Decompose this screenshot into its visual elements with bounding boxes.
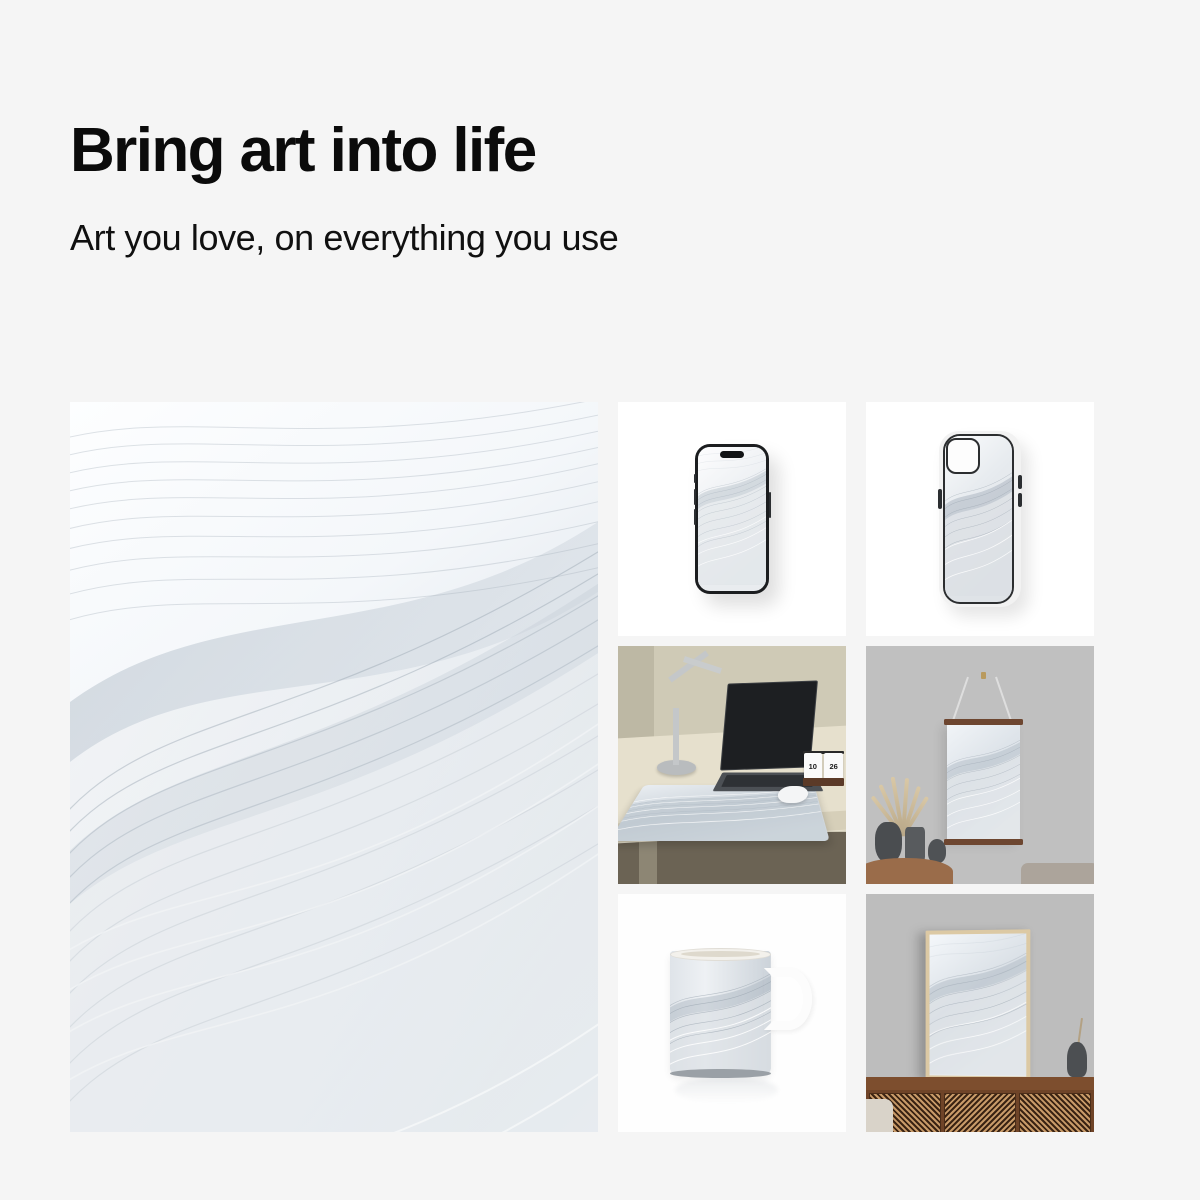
sideboard-panel — [1019, 1093, 1091, 1132]
product-gallery: 10 26 — [70, 402, 1130, 1132]
tile-hanging-poster[interactable] — [866, 646, 1094, 884]
poster-string-left — [953, 677, 969, 720]
wall-hook-icon — [981, 672, 986, 679]
phone-power-button — [769, 492, 771, 518]
poster-rail-bottom — [944, 839, 1024, 845]
room-vase — [1067, 1042, 1088, 1078]
promo-page: Bring art into life Art you love, on eve… — [0, 0, 1200, 1200]
printed-mug-body — [670, 951, 770, 1075]
header: Bring art into life Art you love, on eve… — [70, 118, 970, 259]
sofa — [1021, 863, 1094, 884]
hanging-poster-mockup-scene — [866, 646, 1094, 884]
tile-phone-case[interactable] — [866, 402, 1094, 636]
sideboard-panel — [944, 1093, 1016, 1132]
printed-poster — [947, 722, 1020, 841]
mug-rim — [670, 948, 770, 961]
phone-volume-up-button — [694, 489, 696, 505]
abstract-waves-artwork — [70, 402, 598, 1132]
phone-case-device — [939, 431, 1021, 607]
desk-mat-mockup-scene: 10 26 — [618, 646, 846, 884]
tile-framed-print[interactable] — [866, 894, 1094, 1132]
mug-reflection — [675, 1077, 778, 1103]
mug-bottom — [670, 1069, 770, 1079]
camera-cutout-icon — [946, 438, 980, 474]
phone-mute-button — [694, 474, 696, 483]
tile-ceramic-mug[interactable] — [618, 894, 846, 1132]
walnut-sideboard — [866, 1077, 1094, 1132]
tile-desk-mat[interactable]: 10 26 — [618, 646, 846, 884]
laptop — [718, 682, 814, 796]
phone-volume-down-button — [694, 509, 696, 525]
vase-large — [875, 822, 902, 862]
case-button-cutout-2 — [1018, 493, 1022, 507]
poster-rail-top — [944, 719, 1024, 725]
case-volume-cutout — [938, 489, 942, 509]
sideboard-top — [866, 1077, 1094, 1090]
artwork-hero-tile[interactable] — [70, 402, 598, 1132]
mug-handle — [764, 968, 812, 1030]
framed-print-mockup-scene — [866, 894, 1094, 1132]
case-button-cutout-1 — [1018, 475, 1022, 489]
armchair — [866, 1099, 893, 1132]
tile-phone-wallpaper[interactable] — [618, 402, 846, 636]
printed-art-in-frame — [930, 933, 1027, 1076]
sideboard-panels — [869, 1093, 1091, 1132]
calendar-stand — [803, 778, 844, 787]
poster-string-right — [995, 677, 1011, 720]
flip-calendar: 10 26 — [803, 753, 844, 786]
page-title: Bring art into life — [70, 118, 970, 184]
phone-case-mockup-scene — [866, 402, 1094, 636]
calendar-month: 10 — [804, 753, 822, 779]
phone-screen — [698, 447, 766, 591]
picture-frame — [926, 929, 1031, 1080]
mug-mockup-scene — [618, 894, 846, 1132]
phone-mockup-scene — [618, 402, 846, 636]
smartphone-device — [695, 444, 769, 594]
desk-lamp-stem — [673, 708, 679, 765]
calendar-day: 26 — [824, 753, 842, 779]
dynamic-island-icon — [720, 451, 744, 458]
side-table — [866, 858, 953, 884]
page-subtitle: Art you love, on everything you use — [70, 217, 970, 259]
